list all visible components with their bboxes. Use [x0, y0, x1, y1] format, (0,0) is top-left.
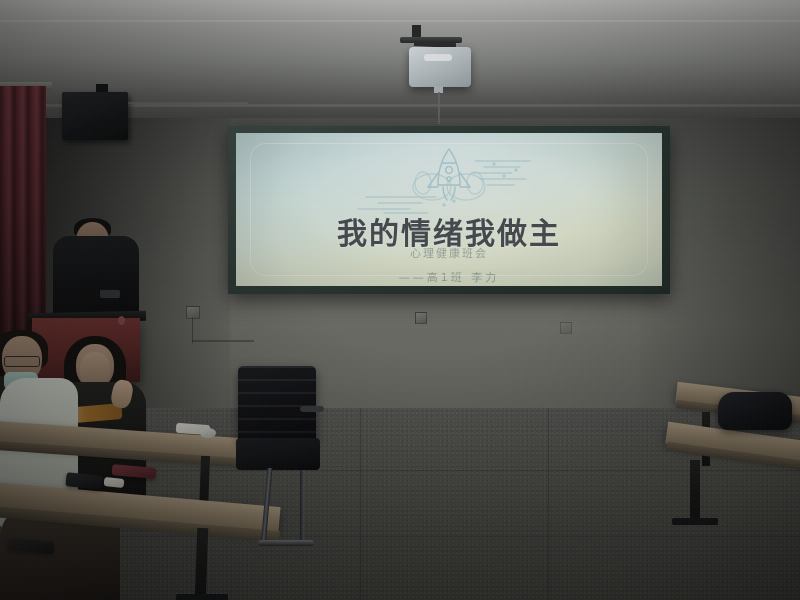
slide-subtitle: 心理健康班会	[236, 245, 662, 261]
floor-tile-line	[0, 536, 800, 537]
office-chair-foot	[258, 540, 314, 546]
floor-tile-line	[360, 408, 361, 600]
wall-conduit	[192, 340, 254, 342]
office-chair-back	[238, 366, 316, 444]
slide-byline: ——高1班 李力	[236, 269, 662, 285]
projector-lens	[424, 54, 452, 61]
floor-tile-line	[548, 408, 549, 600]
backpack-on-desk	[718, 392, 792, 430]
wall-power-outlet	[560, 322, 572, 334]
wall-power-outlet	[415, 312, 427, 324]
office-chair-base	[300, 470, 304, 542]
seated-student-middle-face	[80, 352, 110, 386]
desk-foot	[176, 594, 228, 600]
white-paper	[104, 477, 125, 488]
speaker-wire	[128, 102, 248, 104]
desk-leg	[690, 460, 700, 524]
classroom-photo: 我的情绪我做主 心理健康班会 ——高1班 李力	[0, 0, 800, 600]
office-chair-seat	[236, 438, 320, 470]
projector-cable	[438, 92, 440, 124]
projection-screen: 我的情绪我做主 心理健康班会 ——高1班 李力	[228, 126, 670, 294]
ceiling-seam	[0, 20, 800, 22]
wall-speaker	[62, 92, 128, 140]
microphone	[118, 316, 125, 325]
wall-power-outlet	[186, 306, 200, 319]
glasses	[4, 356, 40, 367]
jacket-logo	[100, 290, 120, 298]
light-cup	[200, 428, 216, 438]
rocket-and-clouds-icon	[344, 143, 554, 217]
desk-foot	[672, 518, 718, 525]
office-chair-arm	[300, 406, 324, 412]
projector	[409, 47, 471, 87]
projection-screen-surface: 我的情绪我做主 心理健康班会 ——高1班 李力	[236, 133, 662, 286]
